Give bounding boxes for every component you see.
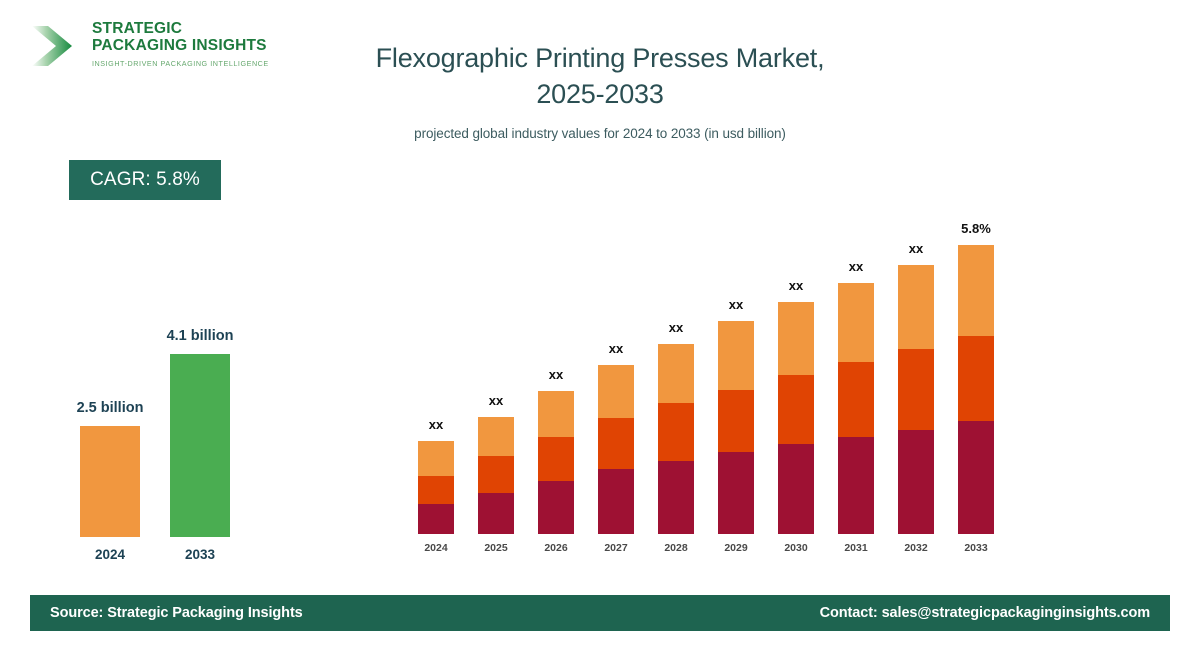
- stacked-bar-value-label: xx: [761, 278, 831, 293]
- stacked-bar-chart: xx2024xx2025xx2026xx2027xx2028xx2029xx20…: [400, 195, 1020, 560]
- stacked-bar-segment: [598, 418, 634, 469]
- logo-tagline: INSIGHT-DRIVEN PACKAGING INTELLIGENCE: [92, 59, 269, 68]
- footer-source: Source: Strategic Packaging Insights: [50, 605, 303, 621]
- stacked-bar-segment: [418, 476, 454, 504]
- comparison-bar-value-label: 4.1 billion: [120, 328, 280, 344]
- comparison-bar: [80, 426, 140, 537]
- stacked-bar-segment: [898, 349, 934, 430]
- stacked-bar-group: [778, 302, 814, 534]
- stacked-bar-segment: [658, 403, 694, 461]
- stacked-bar-group: [958, 245, 994, 534]
- cagr-badge: CAGR: 5.8%: [69, 160, 221, 200]
- stacked-bar-segment: [838, 362, 874, 437]
- stacked-bar-year-label: 2026: [529, 542, 583, 554]
- stacked-bar-segment: [478, 456, 514, 493]
- footer-contact: Contact: sales@strategicpackaginginsight…: [820, 605, 1150, 621]
- comparison-bar-chart: 2.5 billion20244.1 billion2033: [40, 300, 270, 570]
- logo-line-1: STRATEGIC: [92, 20, 269, 37]
- stacked-bar-group: [418, 441, 454, 534]
- stacked-bar-value-label: xx: [641, 320, 711, 335]
- stacked-bar-segment: [778, 302, 814, 375]
- stacked-bar-segment: [538, 481, 574, 534]
- stacked-bar-year-label: 2025: [469, 542, 523, 554]
- stacked-bar-segment: [898, 430, 934, 534]
- stacked-bar-segment: [898, 265, 934, 349]
- stacked-bar-group: [658, 344, 694, 534]
- stacked-bar-group: [538, 391, 574, 534]
- logo-line-2: PACKAGING INSIGHTS: [92, 37, 269, 54]
- stacked-bar-segment: [598, 365, 634, 418]
- stacked-bar-segment: [478, 493, 514, 534]
- stacked-bar-value-label: xx: [821, 259, 891, 274]
- stacked-bar-value-label: 5.8%: [941, 221, 1011, 236]
- page-title-line-1: Flexographic Printing Presses Market,: [300, 40, 900, 76]
- stacked-bar-year-label: 2028: [649, 542, 703, 554]
- comparison-bar-value-label: 2.5 billion: [30, 400, 190, 416]
- stacked-bar-group: [838, 283, 874, 534]
- stacked-bar-segment: [538, 437, 574, 481]
- stacked-bar-value-label: xx: [881, 241, 951, 256]
- stacked-bar-segment: [658, 461, 694, 534]
- chart-header: Flexographic Printing Presses Market, 20…: [300, 40, 900, 141]
- stacked-bar-segment: [598, 469, 634, 534]
- page-subtitle: projected global industry values for 202…: [300, 126, 900, 141]
- stacked-bar-group: [478, 417, 514, 534]
- comparison-bar: [170, 354, 230, 537]
- stacked-bar-segment: [658, 344, 694, 403]
- stacked-bar-year-label: 2032: [889, 542, 943, 554]
- stacked-bar-value-label: xx: [401, 417, 471, 432]
- footer-bar: Source: Strategic Packaging Insights Con…: [30, 595, 1170, 631]
- stacked-bar-year-label: 2031: [829, 542, 883, 554]
- stacked-bar-segment: [718, 452, 754, 534]
- stacked-bar-value-label: xx: [701, 297, 771, 312]
- stacked-bar-segment: [718, 390, 754, 452]
- comparison-bar-year-label: 2024: [80, 547, 140, 562]
- logo-wordmark: STRATEGIC PACKAGING INSIGHTS INSIGHT-DRI…: [92, 20, 269, 68]
- stacked-bar-segment: [778, 375, 814, 444]
- page-title: Flexographic Printing Presses Market, 20…: [300, 40, 900, 112]
- stacked-bar-group: [718, 321, 754, 534]
- stacked-bar-segment: [538, 391, 574, 437]
- stacked-bar-year-label: 2029: [709, 542, 763, 554]
- stacked-bar-segment: [958, 336, 994, 421]
- stacked-bar-segment: [718, 321, 754, 390]
- stacked-bar-group: [898, 265, 934, 534]
- stacked-bar-segment: [838, 283, 874, 362]
- stacked-bar-year-label: 2024: [409, 542, 463, 554]
- stacked-bar-value-label: xx: [581, 341, 651, 356]
- stacked-bar-segment: [778, 444, 814, 534]
- brand-logo: STRATEGIC PACKAGING INSIGHTS INSIGHT-DRI…: [30, 16, 270, 78]
- stacked-bar-segment: [838, 437, 874, 534]
- stacked-bar-segment: [958, 245, 994, 336]
- stacked-bar-group: [598, 365, 634, 534]
- stacked-bar-segment: [958, 421, 994, 534]
- stacked-bar-segment: [418, 441, 454, 476]
- comparison-bar-year-label: 2033: [170, 547, 230, 562]
- stacked-bar-value-label: xx: [521, 367, 591, 382]
- stacked-bar-year-label: 2033: [949, 542, 1003, 554]
- stacked-bar-value-label: xx: [461, 393, 531, 408]
- stacked-bar-year-label: 2030: [769, 542, 823, 554]
- stacked-bar-year-label: 2027: [589, 542, 643, 554]
- stacked-bar-segment: [478, 417, 514, 456]
- stacked-bar-segment: [418, 504, 454, 534]
- chevron-right-icon: [30, 20, 82, 72]
- page-title-line-2: 2025-2033: [300, 76, 900, 112]
